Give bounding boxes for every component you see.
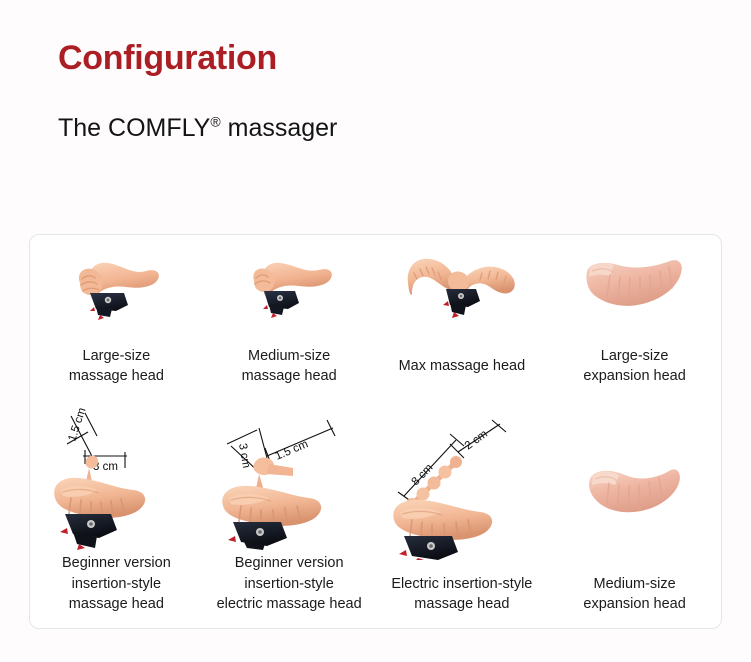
product-caption: Medium-size massage head — [236, 346, 343, 387]
product-cell-medium-size-expansion-head[interactable]: Medium-size expansion head — [548, 401, 721, 629]
product-row-2: 1.5 cm 3 cm — [30, 401, 721, 629]
product-image-beginner-version-insertion-style-electric-massage-head: 3 cm 1.5 cm — [203, 407, 376, 553]
dimension-label: 2 cm — [463, 428, 490, 452]
registered-trademark-icon: ® — [210, 114, 220, 130]
product-cell-electric-insertion-style-massage-head[interactable]: 8 cm 2 cm — [376, 401, 549, 629]
product-cell-beginner-version-insertion-style-electric-massage-head[interactable]: 3 cm 1.5 cm — [203, 401, 376, 629]
product-caption: Large-size expansion head — [577, 346, 691, 387]
product-caption: Max massage head — [393, 356, 532, 377]
page-subtitle-suffix: massager — [221, 114, 338, 142]
product-cell-large-size-expansion-head[interactable]: Large-size expansion head — [548, 235, 721, 401]
product-caption: Beginner version insertion-style massage… — [56, 553, 177, 615]
product-cell-max-massage-head[interactable]: Max massage head — [376, 235, 549, 401]
dimension-label: 3 cm — [236, 443, 252, 470]
product-image-electric-insertion-style-massage-head: 8 cm 2 cm — [376, 407, 549, 574]
product-image-max-massage-head — [376, 249, 549, 356]
product-row-1: Large-size massage head — [30, 235, 721, 401]
page-subtitle-prefix: The COMFLY — [58, 114, 210, 142]
product-caption: Medium-size expansion head — [577, 574, 691, 615]
product-image-large-size-massage-head — [30, 249, 203, 346]
page-root: Configuration The COMFLY® massager — [0, 0, 751, 662]
page-title: Configuration — [58, 40, 751, 77]
dimension-label: 1.5 cm — [274, 438, 310, 463]
product-image-beginner-version-insertion-style-massage-head: 1.5 cm 3 cm — [30, 407, 203, 553]
product-caption: Large-size massage head — [63, 346, 170, 387]
product-cell-medium-size-massage-head[interactable]: Medium-size massage head — [203, 235, 376, 401]
product-caption: Electric insertion-style massage head — [385, 574, 538, 615]
product-cell-beginner-version-insertion-style-massage-head[interactable]: 1.5 cm 3 cm — [30, 401, 203, 629]
product-caption: Beginner version insertion-style electri… — [211, 553, 368, 615]
page-subtitle: The COMFLY® massager — [58, 113, 751, 143]
product-image-medium-size-massage-head — [203, 249, 376, 346]
product-cell-large-size-massage-head[interactable]: Large-size massage head — [30, 235, 203, 401]
configuration-card: Large-size massage head — [29, 234, 722, 629]
page-header: Configuration The COMFLY® massager — [0, 0, 751, 143]
dimension-label: 1.5 cm — [67, 407, 89, 444]
product-image-medium-size-expansion-head — [548, 407, 721, 574]
product-image-large-size-expansion-head — [548, 249, 721, 346]
